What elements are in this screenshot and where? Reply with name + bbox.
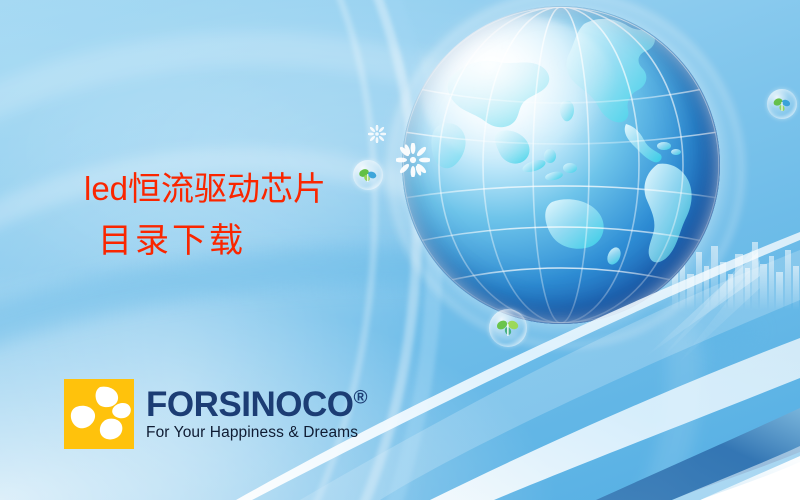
logo-wordmark: FORSINOCO® xyxy=(146,387,367,423)
logo-tagline: For Your Happiness & Dreams xyxy=(146,424,367,442)
company-logo: FORSINOCO® For Your Happiness & Dreams xyxy=(64,379,367,449)
logo-wordmark-text: FORSINOCO xyxy=(146,385,353,424)
headline-block: led恒流驱动芯片 目录下载 xyxy=(84,163,484,267)
daisy-sparkle-small xyxy=(368,125,386,143)
pinwheel-flower-mark xyxy=(64,379,134,449)
pinwheel-petals-icon xyxy=(64,379,134,449)
bubble-pinwheel-center xyxy=(489,309,527,347)
slide-canvas: led恒流驱动芯片 目录下载 FORSINOCO® For Your Happi… xyxy=(0,0,800,500)
headline-line-1: led恒流驱动芯片 xyxy=(84,163,484,215)
logo-text-block: FORSINOCO® For Your Happiness & Dreams xyxy=(146,387,367,442)
headline-line-2: 目录下载 xyxy=(98,215,484,267)
bubble-pinwheel-right xyxy=(767,89,797,119)
registered-trademark-symbol: ® xyxy=(353,387,367,408)
